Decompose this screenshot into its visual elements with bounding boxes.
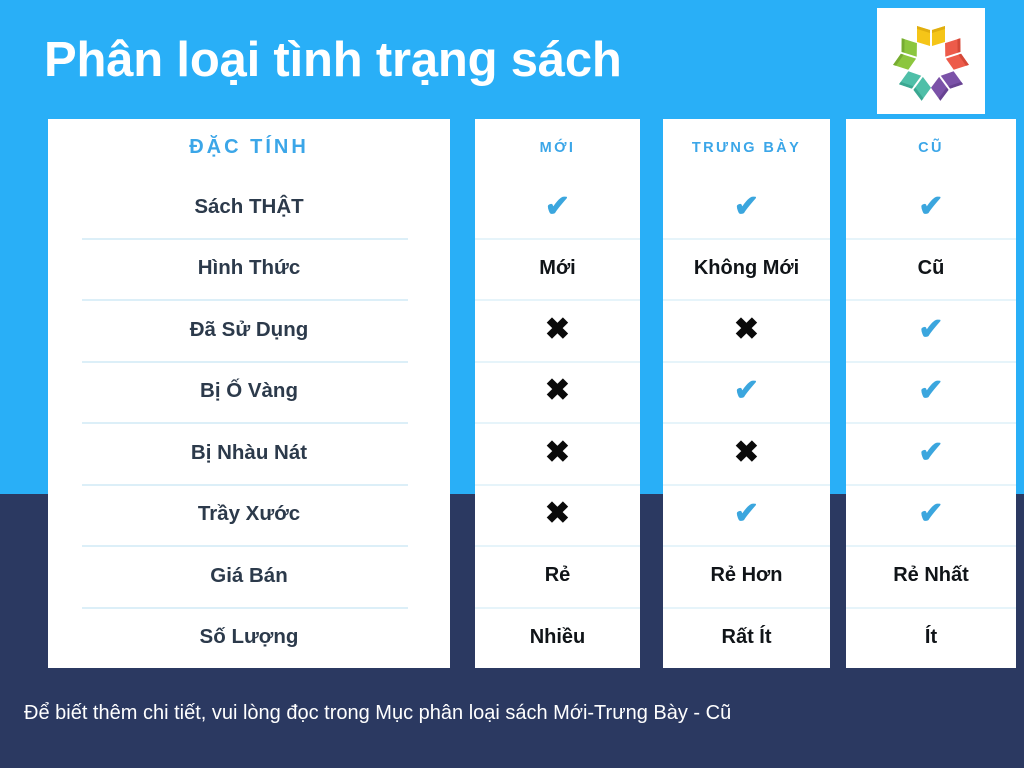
table-row: Giá Bán <box>48 545 450 607</box>
feature-label: Hình Thức <box>198 256 301 280</box>
value-row-list-cu: ✔ Cũ ✔ ✔ ✔ ✔ Rẻ Nhất Ít <box>846 176 1016 668</box>
cross-icon: ✖ <box>545 315 570 345</box>
column-header-cu: CŨ <box>846 119 1016 176</box>
check-icon: ✔ <box>918 192 943 222</box>
feature-label: Sách THẬT <box>194 195 303 219</box>
check-icon: ✔ <box>734 192 759 222</box>
table-row: ✔ <box>475 176 640 238</box>
column-header-trung-bay: TRƯNG BÀY <box>663 119 830 176</box>
cell-value: Rất Ít <box>722 626 772 649</box>
table-row: Rẻ Hơn <box>663 545 830 607</box>
table-row: ✔ <box>846 299 1016 361</box>
cell-value: Rẻ Nhất <box>893 564 969 587</box>
table-row: ✖ <box>475 422 640 484</box>
table-row: ✖ <box>475 361 640 423</box>
cross-icon: ✖ <box>545 376 570 406</box>
feature-label: Đã Sử Dụng <box>190 318 309 342</box>
cross-icon: ✖ <box>545 499 570 529</box>
table-row: Cũ <box>846 238 1016 300</box>
check-icon: ✔ <box>734 376 759 406</box>
table-row: Ít <box>846 607 1016 669</box>
features-column-header: ĐẶC TÍNH <box>48 119 450 176</box>
table-row: Rẻ Nhất <box>846 545 1016 607</box>
table-row: Nhiều <box>475 607 640 669</box>
feature-label: Giá Bán <box>210 564 287 588</box>
table-row: Số Lượng <box>48 607 450 669</box>
table-row: ✖ <box>663 422 830 484</box>
feature-label: Bị Ố Vàng <box>200 379 298 403</box>
check-icon: ✔ <box>918 499 943 529</box>
column-header-moi: MỚI <box>475 119 640 176</box>
column-card-moi: MỚI ✔ Mới ✖ ✖ ✖ ✖ Rẻ Nhiều <box>475 119 640 668</box>
table-row: ✖ <box>475 484 640 546</box>
feature-label: Bị Nhàu Nát <box>191 441 307 465</box>
table-row: ✖ <box>663 299 830 361</box>
features-column-card: ĐẶC TÍNH Sách THẬT Hình Thức Đã Sử Dụng … <box>48 119 450 668</box>
page-title: Phân loại tình trạng sách <box>44 24 844 96</box>
table-row: Bị Nhàu Nát <box>48 422 450 484</box>
table-row: Sách THẬT <box>48 176 450 238</box>
infographic-page: Phân loại tình trạng sách <box>0 0 1024 768</box>
cell-value: Rẻ Hơn <box>710 564 782 587</box>
table-row: ✔ <box>846 176 1016 238</box>
check-icon: ✔ <box>545 192 570 222</box>
check-icon: ✔ <box>918 376 943 406</box>
table-row: ✔ <box>663 361 830 423</box>
cell-value: Ít <box>925 626 937 649</box>
table-row: Mới <box>475 238 640 300</box>
value-row-list-trung-bay: ✔ Không Mới ✖ ✔ ✖ ✔ Rẻ Hơn Rất Ít <box>663 176 830 668</box>
cross-icon: ✖ <box>545 438 570 468</box>
table-row: Không Mới <box>663 238 830 300</box>
check-icon: ✔ <box>918 438 943 468</box>
cell-value: Không Mới <box>694 257 799 280</box>
cell-value: Nhiều <box>530 626 586 649</box>
table-row: ✖ <box>475 299 640 361</box>
table-row: Bị Ố Vàng <box>48 361 450 423</box>
cell-value: Mới <box>539 257 575 280</box>
table-row: ✔ <box>846 361 1016 423</box>
cross-icon: ✖ <box>734 438 759 468</box>
table-row: ✔ <box>663 176 830 238</box>
feature-label: Trầy Xước <box>198 502 300 526</box>
table-row: Đã Sử Dụng <box>48 299 450 361</box>
table-row: Hình Thức <box>48 238 450 300</box>
column-card-cu: CŨ ✔ Cũ ✔ ✔ ✔ ✔ Rẻ Nhất Ít <box>846 119 1016 668</box>
footer-note: Để biết thêm chi tiết, vui lòng đọc tron… <box>24 702 984 725</box>
cell-value: Cũ <box>918 257 945 280</box>
check-icon: ✔ <box>918 315 943 345</box>
value-row-list-moi: ✔ Mới ✖ ✖ ✖ ✖ Rẻ Nhiều <box>475 176 640 668</box>
table-row: Rất Ít <box>663 607 830 669</box>
table-row: ✔ <box>846 422 1016 484</box>
check-icon: ✔ <box>734 499 759 529</box>
table-row: Trầy Xước <box>48 484 450 546</box>
cross-icon: ✖ <box>734 315 759 345</box>
table-row: ✔ <box>663 484 830 546</box>
feature-label: Số Lượng <box>200 625 299 649</box>
features-row-list: Sách THẬT Hình Thức Đã Sử Dụng Bị Ố Vàng… <box>48 176 450 668</box>
column-card-trung-bay: TRƯNG BÀY ✔ Không Mới ✖ ✔ ✖ ✔ Rẻ Hơn Rất… <box>663 119 830 668</box>
table-row: Rẻ <box>475 545 640 607</box>
logo <box>877 8 985 114</box>
cell-value: Rẻ <box>545 564 571 587</box>
five-books-logo-icon <box>877 8 985 114</box>
table-row: ✔ <box>846 484 1016 546</box>
